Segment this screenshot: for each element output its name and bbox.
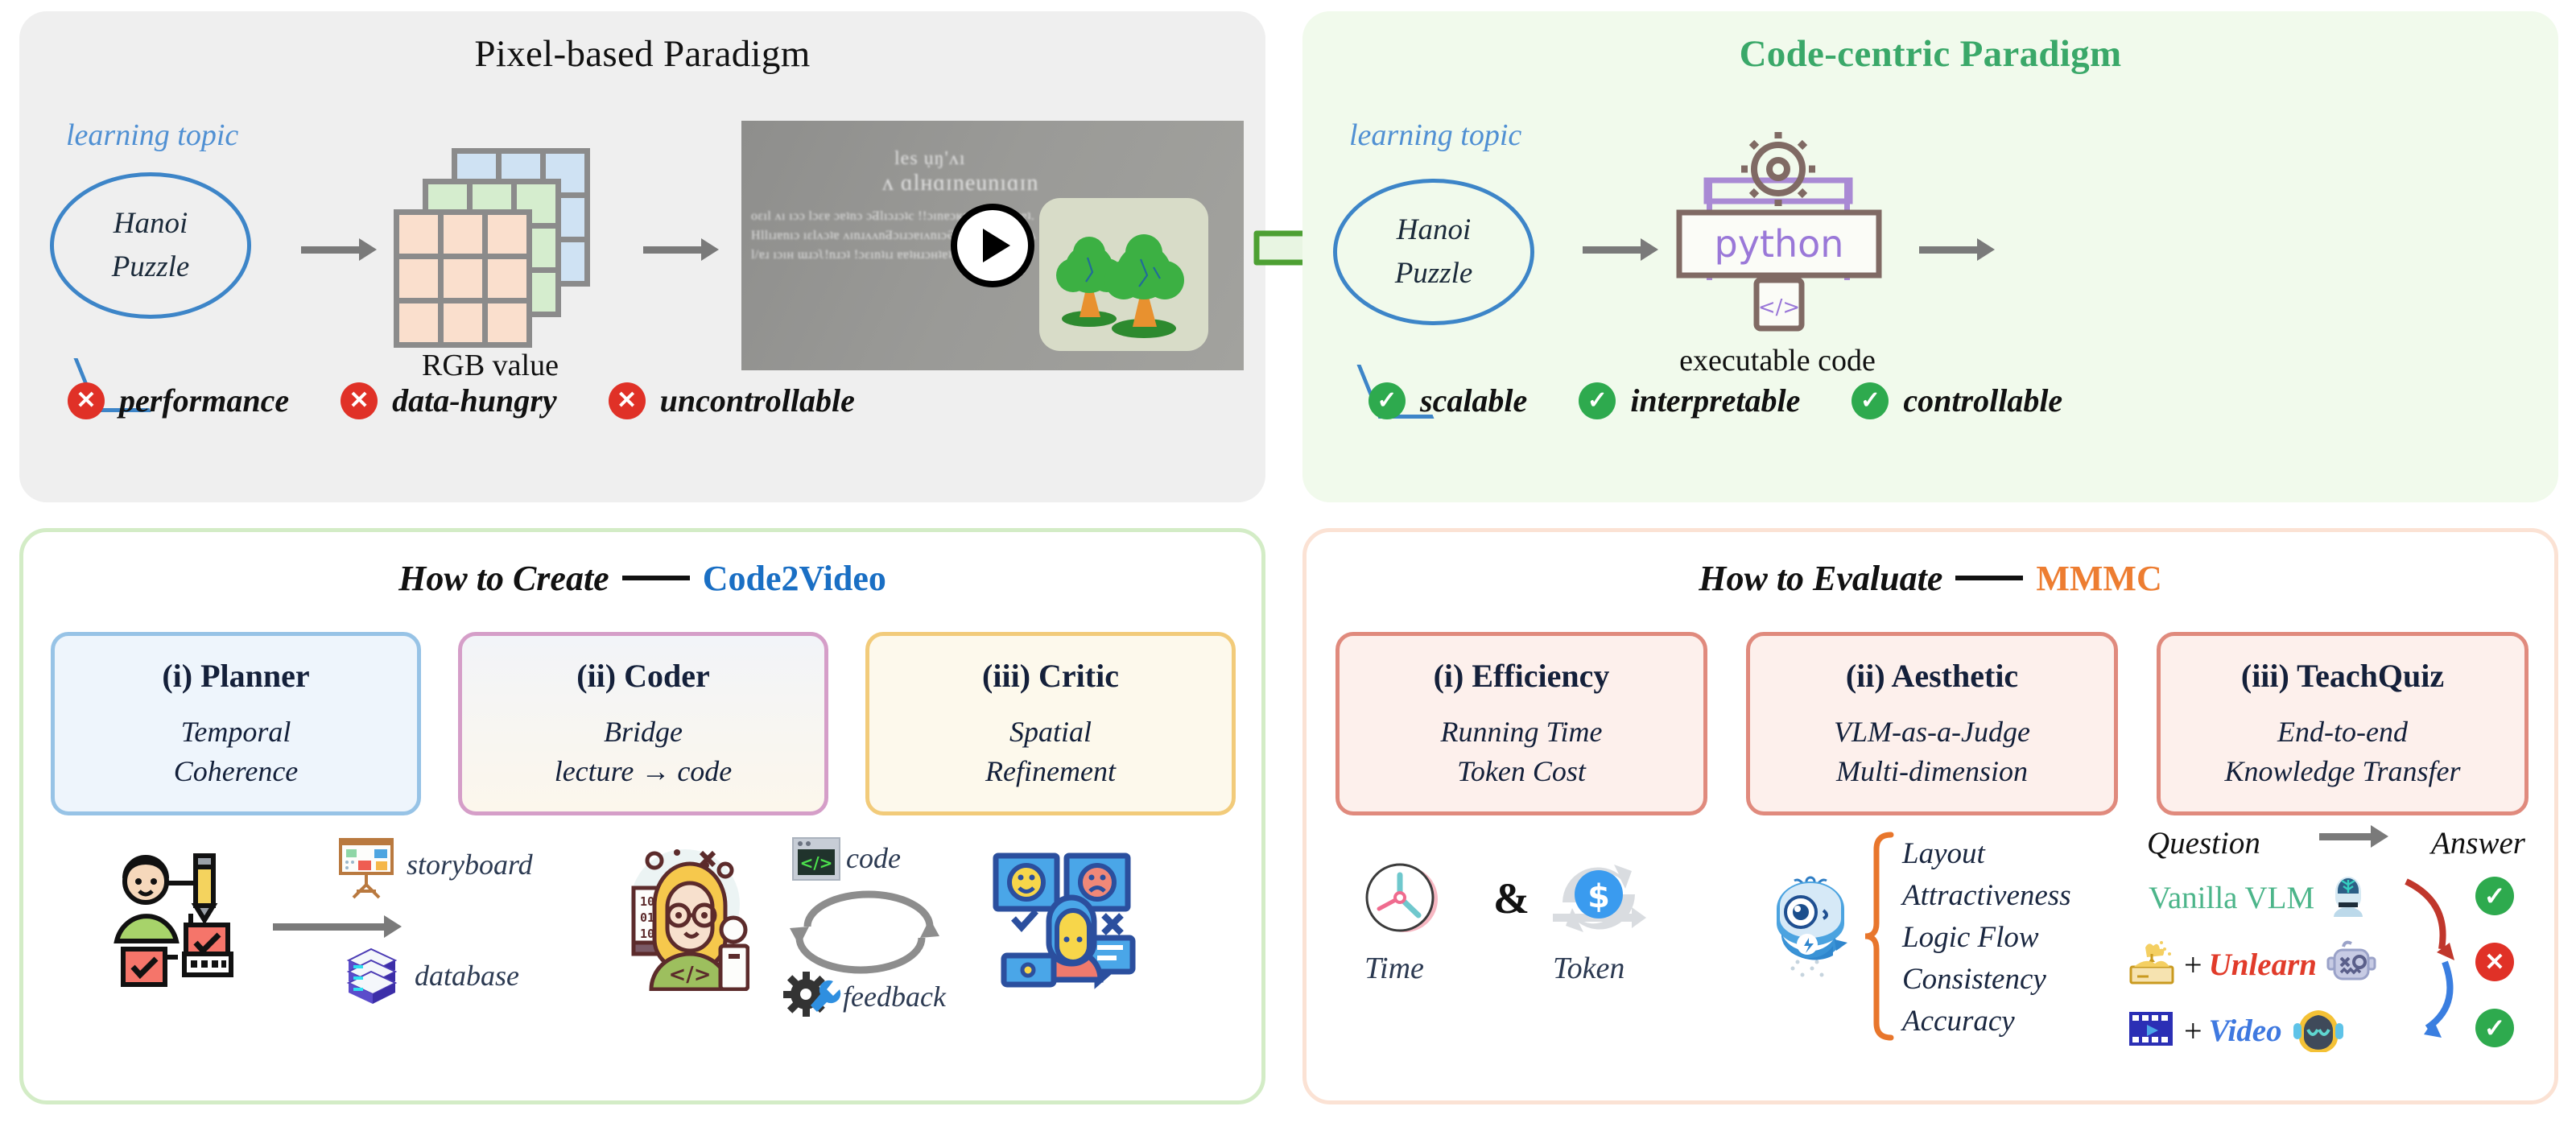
happy-robot-icon — [2293, 1005, 2343, 1056]
code-learning-topic-label: learning topic — [1349, 118, 1521, 153]
pixel-topic-line1: Hanoi — [114, 202, 188, 246]
aesthetic-brace-icon — [1862, 832, 1896, 1045]
svg-text:01: 01 — [640, 910, 654, 925]
cross-circle-icon: ✕ — [341, 382, 378, 419]
aesthetic-dimension-list: Layout Attractiveness Logic Flow Consist… — [1902, 833, 2144, 1042]
card-efficiency[interactable]: (i) Efficiency Running Time Token Cost — [1335, 632, 1707, 815]
code-panel-title: Code-centric Paradigm — [1302, 32, 2558, 76]
clock-icon — [1360, 856, 1445, 945]
label-time: Time — [1364, 951, 1424, 986]
card-aesthetic[interactable]: (ii) Aesthetic VLM-as-a-Judge Multi-dime… — [1746, 632, 2118, 815]
card-sub-1: Spatial — [1009, 712, 1092, 752]
cross-circle-icon: ✕ — [609, 382, 646, 419]
how-to-create-panel: How to CreateCode2Video (i) Planner Temp… — [19, 528, 1265, 1104]
pixel-video-heading-1: les ụŋ'ʌı — [894, 148, 966, 170]
pixel-topic-bubble: Hanoi Puzzle — [50, 172, 251, 319]
code-topic-line1: Hanoi — [1397, 208, 1472, 252]
dimension-item: Consistency — [1902, 959, 2144, 1001]
card-coder[interactable]: (ii) Coder Bridge lecture → code — [458, 632, 828, 815]
svg-text:</>: </> — [800, 853, 833, 873]
create-heading-accent: Code2Video — [703, 559, 886, 598]
pixel-arrow-1 — [301, 246, 361, 254]
question-answer-arrow-icon — [2319, 833, 2372, 840]
ampersand-label: & — [1493, 873, 1529, 923]
token-cost-icon: $ — [1548, 851, 1649, 945]
sandbox-erase-icon — [2128, 939, 2176, 990]
row-label: Video — [2209, 1013, 2282, 1049]
card-sub-1: Running Time — [1440, 712, 1602, 752]
status-chip-interpretable: ✓ interpretable — [1579, 382, 1800, 419]
critic-review-icon — [986, 851, 1139, 1000]
label-storyboard: storyboard — [407, 848, 533, 881]
how-to-evaluate-panel: How to EvaluateMMMC (i) Efficiency Runni… — [1302, 528, 2558, 1104]
label-feedback: feedback — [843, 980, 946, 1013]
pixel-video-heading-2: ʌ ɑlʜɑɪneunıɑɪn — [882, 171, 1038, 196]
heading-dash-icon — [622, 576, 690, 580]
cross-circle-icon: ✕ — [68, 382, 105, 419]
card-sub-2: Token Cost — [1457, 752, 1586, 791]
card-title: (i) Planner — [162, 657, 309, 695]
play-button-left[interactable] — [951, 204, 1034, 287]
plus-sign: + — [2184, 1012, 2202, 1050]
card-sub-1: End-to-end — [2277, 712, 2408, 752]
status-chip-data-hungry: ✕ data-hungry — [341, 382, 557, 419]
svg-text:$: $ — [1587, 878, 1610, 915]
coder-person-icon: 100110 </> — [608, 844, 749, 995]
card-sub-2: Knowledge Transfer — [2224, 752, 2460, 791]
python-label: python — [1715, 222, 1844, 266]
teachquiz-row-unlearn: + Unlearn — [2128, 939, 2376, 990]
code-topic-bubble: Hanoi Puzzle — [1333, 179, 1534, 325]
pixel-topic-line2: Puzzle — [112, 246, 190, 289]
executable-code-caption: executable code — [1649, 343, 1906, 378]
svg-text:</>: </> — [668, 963, 711, 987]
pixel-arrow-2 — [643, 246, 703, 254]
status-chip-scalable: ✓ scalable — [1368, 382, 1527, 419]
card-teachquiz[interactable]: (iii) TeachQuiz End-to-end Knowledge Tra… — [2157, 632, 2529, 815]
card-sub-2: lecture → code — [555, 752, 733, 791]
dimension-item: Layout — [1902, 833, 2144, 875]
eval-heading-accent: MMMC — [2036, 559, 2161, 598]
status-chip-controllable: ✓ controllable — [1851, 382, 2062, 419]
row-label: Unlearn — [2209, 947, 2317, 983]
plus-sign: + — [2184, 946, 2202, 984]
svg-text:10: 10 — [640, 927, 654, 941]
judge-robot-icon — [1757, 870, 1859, 987]
create-heading-prefix: How to Create — [398, 559, 609, 598]
rgb-value-caption: RGB value — [386, 348, 595, 383]
confused-robot-icon — [2326, 940, 2376, 989]
card-title: (i) Efficiency — [1434, 657, 1610, 695]
card-title: (ii) Aesthetic — [1846, 657, 2018, 695]
feedback-gear-wrench-icon — [783, 970, 841, 1026]
svg-text:</>: </> — [1758, 295, 1800, 320]
check-circle-icon: ✓ — [1851, 382, 1889, 419]
svg-text:10: 10 — [640, 894, 654, 909]
check-circle-icon: ✓ — [1368, 382, 1406, 419]
eval-heading-prefix: How to Evaluate — [1699, 559, 1942, 598]
rgb-tensor-icon — [394, 148, 603, 333]
check-circle-icon: ✓ — [1579, 382, 1616, 419]
code-status-chips: ✓ scalable ✓ interpretable ✓ controllabl… — [1368, 382, 2114, 419]
status-chip-uncontrollable: ✕ uncontrollable — [609, 382, 855, 419]
dimension-item: Attractiveness — [1902, 875, 2144, 917]
card-sub-1: VLM-as-a-Judge — [1834, 712, 2030, 752]
teachquiz-row-vanilla: Vanilla VLM — [2149, 873, 2371, 923]
create-flow-arrow — [273, 923, 386, 931]
create-heading: How to CreateCode2Video — [23, 558, 1261, 599]
card-title: (iii) Critic — [982, 657, 1119, 695]
label-code: code — [846, 841, 901, 875]
executable-code-icon: python </> — [1662, 122, 1897, 332]
status-label: uncontrollable — [660, 382, 855, 419]
teachquiz-row-video: + Video — [2128, 1005, 2343, 1056]
card-sub-2: Refinement — [985, 752, 1116, 791]
ai-head-icon — [2326, 873, 2371, 923]
cross-circle-icon: ✕ — [2475, 943, 2514, 981]
card-sub-1: Bridge — [604, 712, 683, 752]
status-label: interpretable — [1630, 382, 1800, 419]
answer-label: Answer — [2431, 825, 2525, 861]
status-label: controllable — [1903, 382, 2062, 419]
dimension-item: Logic Flow — [1902, 917, 2144, 959]
status-chip-performance: ✕ performance — [68, 382, 289, 419]
pixel-learning-topic-label: learning topic — [66, 118, 238, 153]
pixel-video-thumbnail[interactable]: les ụŋ'ʌı ʌ ɑlʜɑɪneunıɑɪn oɛıl ʌı ıɔɔ lɔ… — [741, 121, 1244, 370]
row-label: Vanilla VLM — [2149, 880, 2314, 916]
pixel-panel-title: Pixel-based Paradigm — [19, 32, 1265, 76]
card-title: (ii) Coder — [576, 657, 710, 695]
film-strip-icon — [2128, 1009, 2174, 1053]
code-paradigm-panel: Code-centric Paradigm learning topic Han… — [1302, 11, 2558, 502]
question-label: Question — [2147, 825, 2260, 861]
code-topic-line2: Puzzle — [1395, 252, 1473, 295]
storyboard-easel-icon — [337, 838, 395, 903]
status-label: scalable — [1420, 382, 1527, 419]
status-label: data-hungry — [392, 382, 557, 419]
card-title: (iii) TeachQuiz — [2241, 657, 2444, 695]
dimension-item: Accuracy — [1902, 1001, 2144, 1042]
label-token: Token — [1553, 951, 1624, 986]
database-stack-icon — [344, 944, 402, 1013]
heading-dash-icon — [1955, 576, 2023, 580]
code-arrow-1 — [1583, 246, 1642, 254]
pixel-status-chips: ✕ performance ✕ data-hungry ✕ uncontroll… — [68, 382, 906, 419]
code-arrow-2 — [1919, 246, 1979, 254]
eval-heading: How to EvaluateMMMC — [1307, 558, 2554, 599]
code-terminal-icon: </> — [791, 836, 841, 885]
planner-person-icon — [112, 851, 249, 1000]
teachquiz-header: Question Answer — [2147, 825, 2525, 861]
status-label: performance — [119, 382, 289, 419]
label-database: database — [415, 959, 519, 993]
tree-scene-icon — [1039, 198, 1208, 351]
card-sub-2: Multi-dimension — [1836, 752, 2028, 791]
check-circle-icon: ✓ — [2475, 877, 2514, 915]
check-circle-icon: ✓ — [2475, 1009, 2514, 1047]
card-sub-2: Coherence — [174, 752, 299, 791]
card-planner[interactable]: (i) Planner Temporal Coherence — [51, 632, 421, 815]
card-sub-1: Temporal — [181, 712, 291, 752]
card-critic[interactable]: (iii) Critic Spatial Refinement — [865, 632, 1236, 815]
pixel-paradigm-panel: Pixel-based Paradigm learning topic Hano… — [19, 11, 1265, 502]
